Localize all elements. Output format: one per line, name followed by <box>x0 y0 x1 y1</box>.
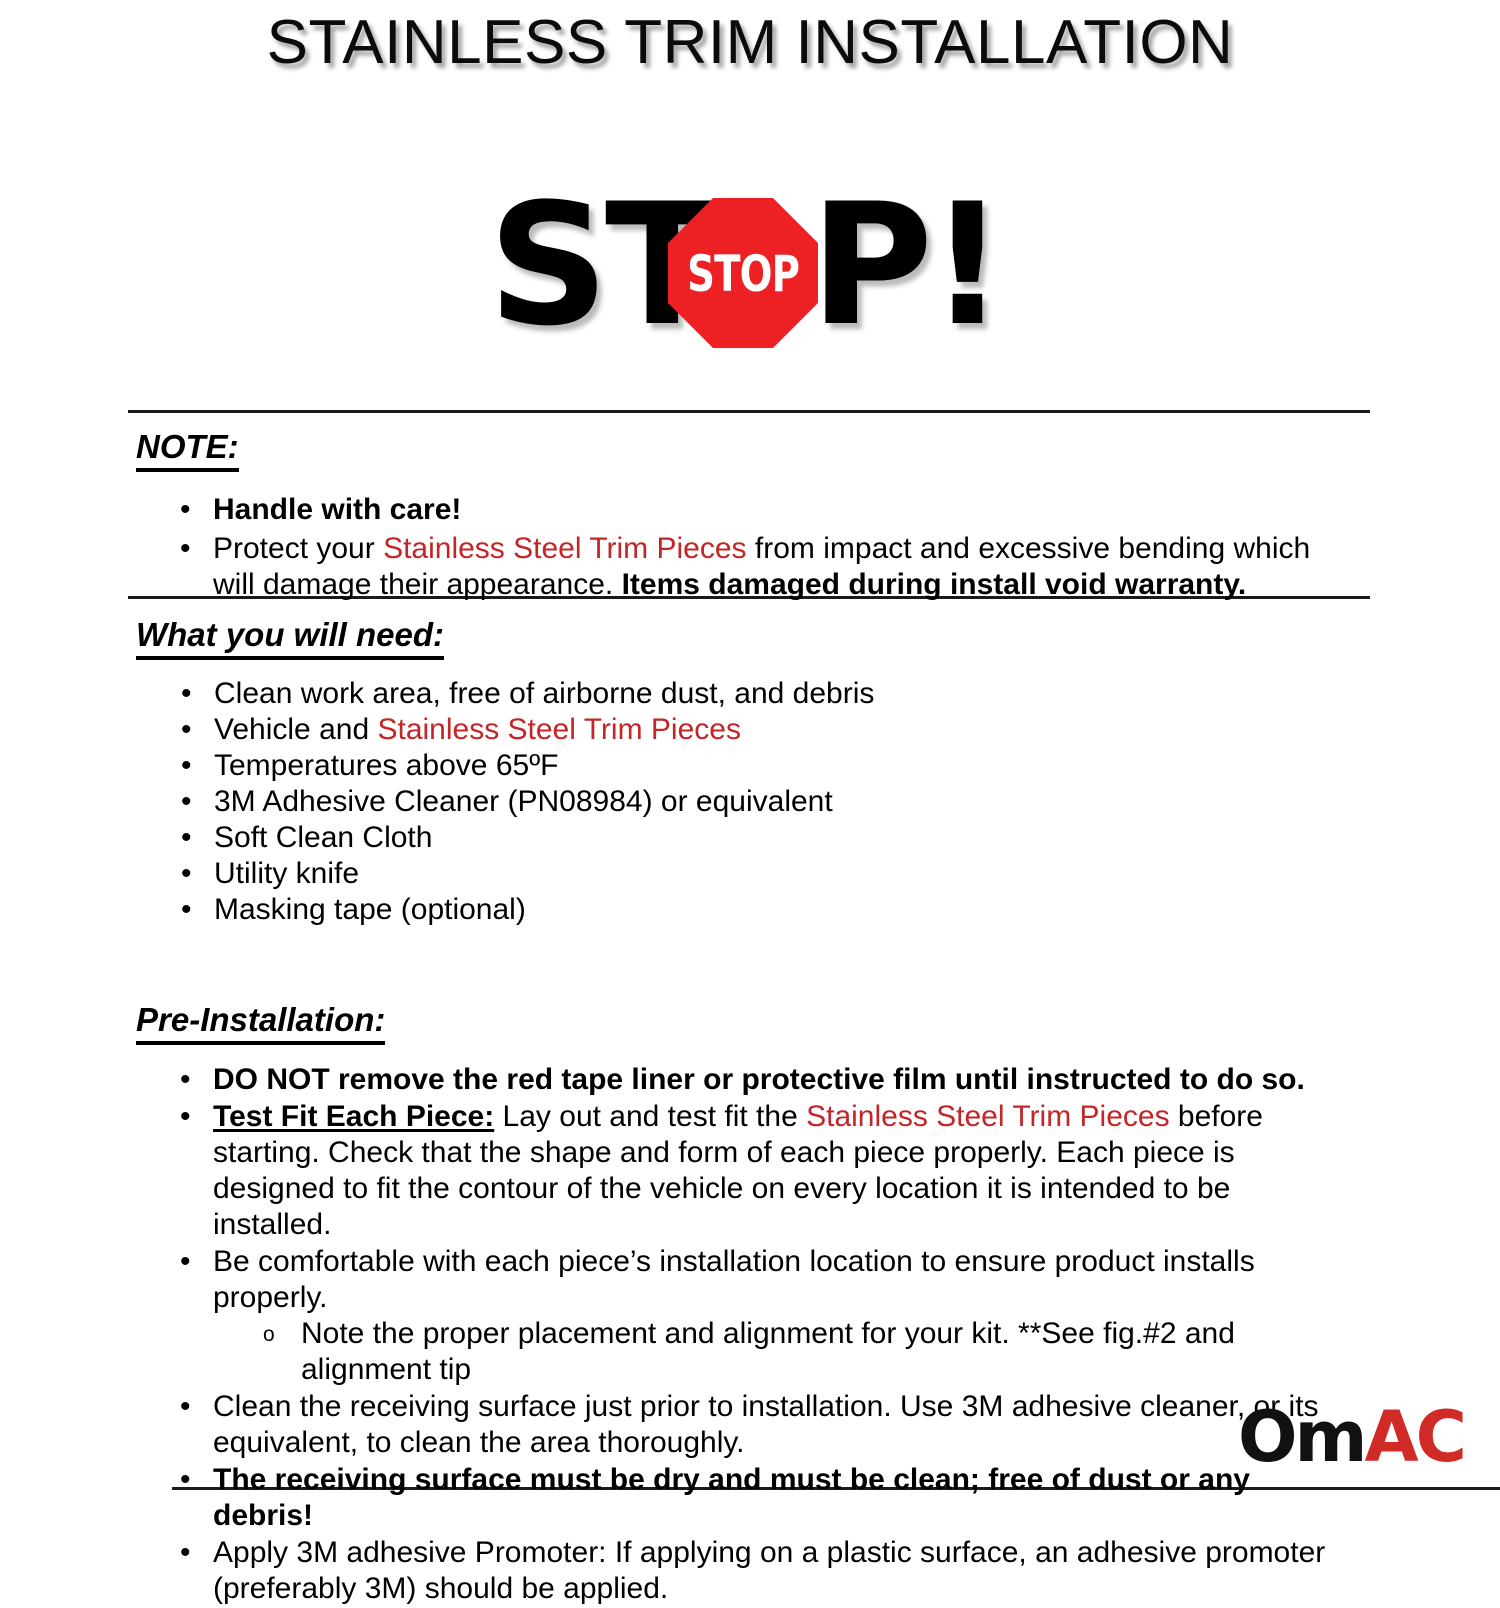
stop-sign-icon: STOP <box>668 198 818 348</box>
bullet-icon: • <box>180 1099 191 1135</box>
bullet-icon: • <box>181 784 192 820</box>
section-heading-need: What you will need: <box>136 618 444 653</box>
bullet-icon: • <box>180 1244 191 1280</box>
bullet-icon: • <box>180 1062 191 1098</box>
pre-item-0: DO NOT remove the red tape liner or prot… <box>213 1063 1305 1096</box>
section-heading-preinstallation: Pre-Installation: <box>136 1003 385 1038</box>
omac-logo-red-text: AC <box>1364 1404 1464 1470</box>
pre-item-2-sub-text: Note the proper placement and alignment … <box>301 1317 1235 1386</box>
need-item-1-seg-0: Vehicle and <box>214 713 377 746</box>
list-item: • Utility knife <box>214 856 1214 892</box>
list-item: • Apply 3M adhesive Promoter: If applyin… <box>213 1535 1343 1607</box>
bullet-icon: • <box>180 1462 191 1498</box>
list-item: • The receiving surface must be dry and … <box>213 1462 1343 1534</box>
pre-item-2: Be comfortable with each piece’s install… <box>213 1245 1255 1314</box>
divider-top <box>128 410 1370 413</box>
need-item-5: Utility knife <box>214 857 359 890</box>
note-item-1-seg-0: Protect your <box>213 532 383 565</box>
bullet-icon: • <box>181 676 192 712</box>
list-item: • Clean work area, free of airborne dust… <box>214 676 1214 712</box>
bullet-icon: • <box>181 892 192 928</box>
bullet-icon: • <box>180 531 191 567</box>
omac-logo: OmAC <box>1238 1404 1464 1470</box>
bullet-icon: • <box>180 492 191 528</box>
list-item: • Protect your Stainless Steel Trim Piec… <box>213 531 1313 603</box>
list-item: • Masking tape (optional) <box>214 892 1214 928</box>
pre-item-1-seg-0: Test Fit Each Piece: <box>213 1100 494 1133</box>
stop-logo-right-text: P! <box>810 176 1002 354</box>
stop-logo: ST P! STOP <box>480 176 1000 356</box>
omac-logo-dark-text: Om <box>1238 1404 1364 1470</box>
note-list: • Handle with care! • Protect your Stain… <box>213 492 1313 606</box>
sub-list-item: o Note the proper placement and alignmen… <box>301 1316 1343 1388</box>
pre-item-5: Apply 3M adhesive Promoter: If applying … <box>213 1536 1325 1605</box>
list-item: • Clean the receiving surface just prior… <box>213 1389 1343 1461</box>
bullet-icon: • <box>180 1535 191 1571</box>
list-item: • Handle with care! <box>213 492 1313 528</box>
need-item-1-seg-1: Stainless Steel Trim Pieces <box>377 713 740 746</box>
section-heading-note-text: NOTE: <box>136 428 239 472</box>
need-item-4: Soft Clean Cloth <box>214 821 432 854</box>
pre-item-1-seg-1: Lay out and test fit the <box>494 1100 806 1133</box>
note-item-1-seg-1: Stainless Steel Trim Pieces <box>383 532 746 565</box>
preinstallation-list: • DO NOT remove the red tape liner or pr… <box>213 1062 1343 1608</box>
section-heading-note: NOTE: <box>136 430 239 465</box>
bullet-icon: • <box>181 856 192 892</box>
need-item-0: Clean work area, free of airborne dust, … <box>214 677 874 710</box>
pre-item-3: Clean the receiving surface just prior t… <box>213 1390 1319 1459</box>
list-item: • DO NOT remove the red tape liner or pr… <box>213 1062 1343 1098</box>
bullet-icon: • <box>181 748 192 784</box>
need-item-2: Temperatures above 65ºF <box>214 749 558 782</box>
section-heading-preinstallation-text: Pre-Installation: <box>136 1001 385 1045</box>
bullet-icon: • <box>181 712 192 748</box>
list-item: • Soft Clean Cloth <box>214 820 1214 856</box>
list-item: • Vehicle and Stainless Steel Trim Piece… <box>214 712 1214 748</box>
pre-item-4: The receiving surface must be dry and mu… <box>213 1463 1250 1532</box>
list-item: • Be comfortable with each piece’s insta… <box>213 1244 1343 1388</box>
section-heading-need-text: What you will need: <box>136 616 444 660</box>
note-item-0-seg-0: Handle with care! <box>213 493 461 526</box>
bullet-icon: • <box>181 820 192 856</box>
note-item-1-seg-3: Items damaged during install void warran… <box>622 568 1247 601</box>
list-item: • 3M Adhesive Cleaner (PN08984) or equiv… <box>214 784 1214 820</box>
list-item: • Test Fit Each Piece: Lay out and test … <box>213 1099 1343 1243</box>
bullet-icon: • <box>180 1389 191 1425</box>
stop-sign-label: STOP <box>687 249 799 299</box>
need-list: • Clean work area, free of airborne dust… <box>214 676 1214 928</box>
need-item-3: 3M Adhesive Cleaner (PN08984) or equival… <box>214 785 833 818</box>
pre-item-1-seg-2: Stainless Steel Trim Pieces <box>806 1100 1169 1133</box>
page-title: STAINLESS TRIM INSTALLATION <box>0 12 1500 74</box>
hollow-bullet-icon: o <box>263 1317 275 1353</box>
need-item-6: Masking tape (optional) <box>214 893 526 926</box>
list-item: • Temperatures above 65ºF <box>214 748 1214 784</box>
